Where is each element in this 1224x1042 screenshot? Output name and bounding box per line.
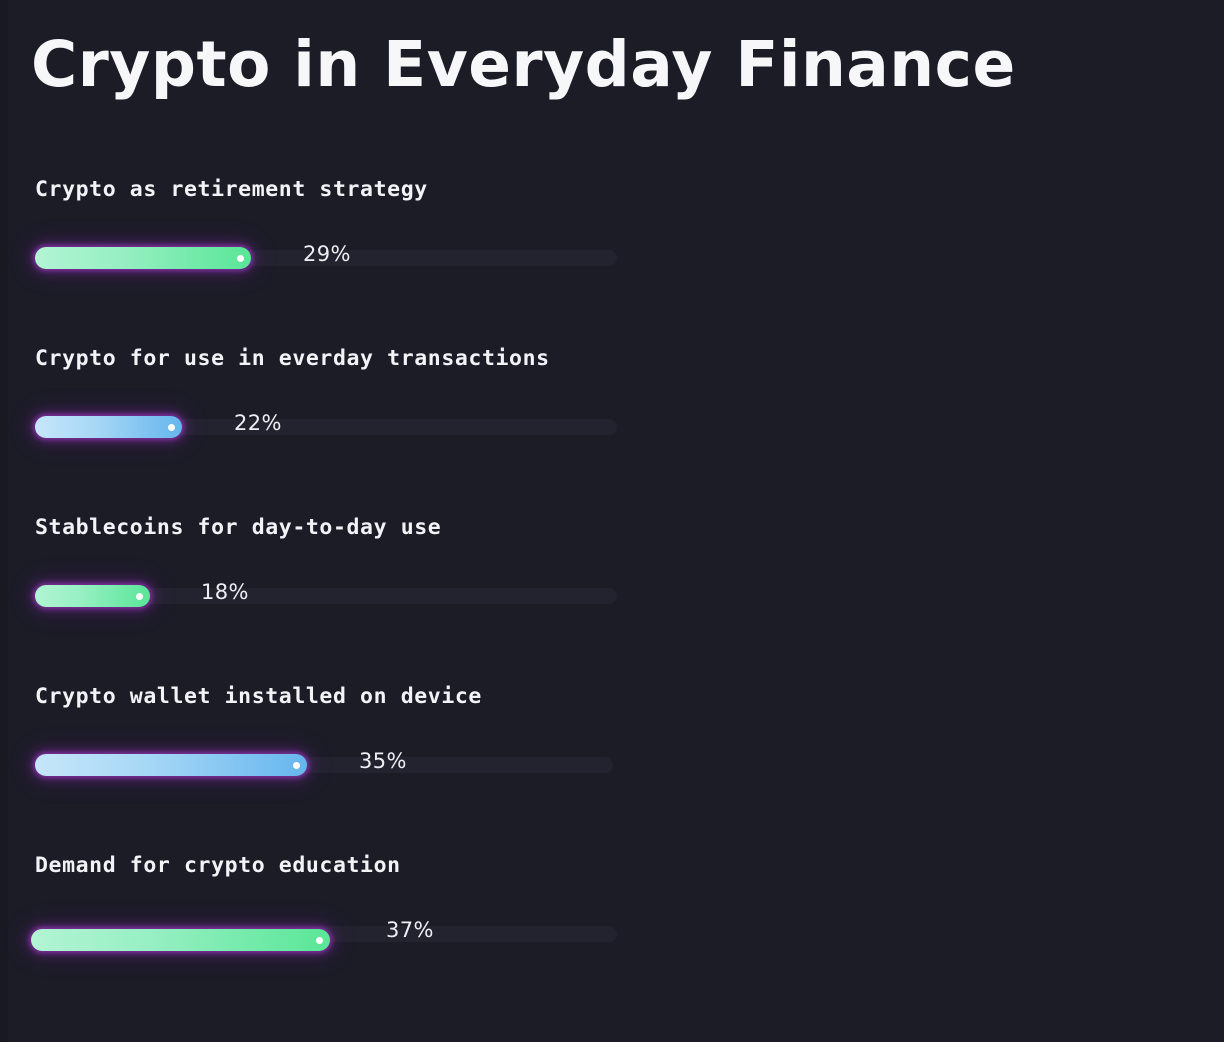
progress-knob-icon[interactable]: [316, 937, 323, 944]
progress-knob-icon[interactable]: [168, 424, 175, 431]
progress-bar-zone: 37%: [0, 917, 1224, 957]
progress-fill[interactable]: [31, 929, 330, 951]
progress-bar-zone: 35%: [0, 748, 1224, 788]
progress-row-label: Crypto for use in everday transactions: [35, 346, 550, 371]
progress-bar-zone: 29%: [0, 241, 1224, 281]
progress-value-label: 37%: [386, 918, 434, 942]
chart-canvas: Crypto in Everyday Finance Crypto as ret…: [0, 0, 1224, 1042]
progress-row: Crypto as retirement strategy29%: [0, 163, 1224, 332]
progress-row: Crypto for use in everday transactions22…: [0, 332, 1224, 501]
progress-row: Crypto wallet installed on device35%: [0, 670, 1224, 839]
progress-bar-list: Crypto as retirement strategy29%Crypto f…: [0, 163, 1224, 1008]
progress-value-label: 35%: [359, 749, 407, 773]
progress-fill[interactable]: [35, 247, 251, 269]
progress-fill[interactable]: [35, 416, 182, 438]
progress-fill[interactable]: [35, 585, 150, 607]
progress-row-label: Crypto as retirement strategy: [35, 177, 428, 202]
progress-value-label: 29%: [303, 242, 351, 266]
page-title: Crypto in Everyday Finance: [31, 33, 1016, 96]
progress-value-label: 18%: [201, 580, 249, 604]
progress-row: Demand for crypto education37%: [0, 839, 1224, 1008]
progress-bar-zone: 22%: [0, 410, 1224, 450]
progress-value-label: 22%: [234, 411, 282, 435]
progress-knob-icon[interactable]: [136, 593, 143, 600]
progress-row: Stablecoins for day-to-day use18%: [0, 501, 1224, 670]
progress-row-label: Demand for crypto education: [35, 853, 401, 878]
progress-knob-icon[interactable]: [237, 255, 244, 262]
progress-row-label: Stablecoins for day-to-day use: [35, 515, 441, 540]
progress-knob-icon[interactable]: [293, 762, 300, 769]
progress-bar-zone: 18%: [0, 579, 1224, 619]
progress-row-label: Crypto wallet installed on device: [35, 684, 482, 709]
progress-fill[interactable]: [35, 754, 307, 776]
